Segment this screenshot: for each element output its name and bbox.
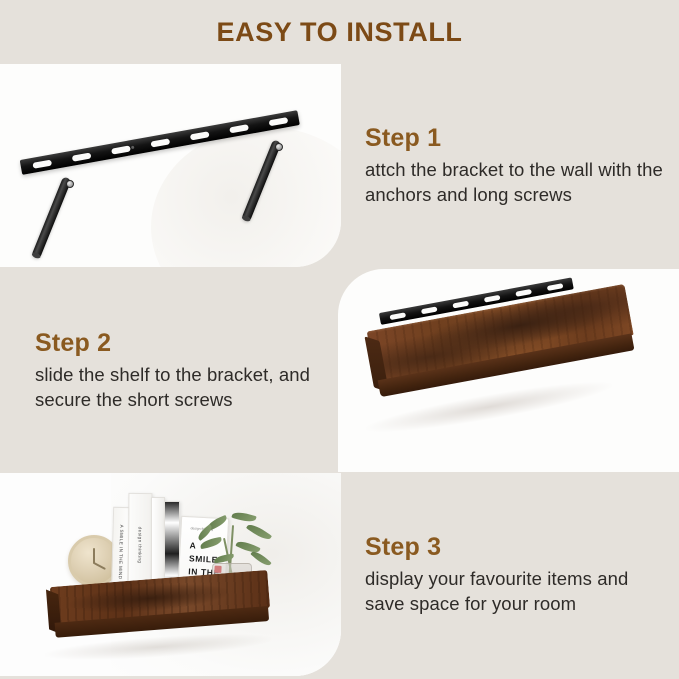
infographic-page: EASY TO INSTALL: [0, 0, 679, 679]
step-3-image-panel: A SMILE IN THE MIND design thinking desi…: [0, 473, 341, 676]
step-2-heading: Step 2: [35, 329, 327, 358]
screw-head-right-icon: [275, 143, 283, 151]
bracket-rod-right-icon: [241, 139, 282, 222]
shelf-illustration: [338, 269, 679, 472]
step-1-heading: Step 1: [365, 124, 671, 153]
step-2-text-panel: Step 2 slide the shelf to the bracket, a…: [0, 269, 341, 472]
styled-shelf-illustration: A SMILE IN THE MIND design thinking desi…: [0, 473, 341, 676]
page-title-bar: EASY TO INSTALL: [0, 0, 679, 64]
step-2-image-panel: [338, 269, 679, 472]
book-spine-1-title: A SMILE IN THE MIND: [117, 525, 123, 580]
bracket-bar-icon: [20, 110, 300, 175]
step-3-text-panel: Step 3 display your favourite items and …: [338, 473, 679, 676]
step-row-3: A SMILE IN THE MIND design thinking desi…: [0, 473, 679, 676]
step-3-heading: Step 3: [365, 533, 671, 562]
step-1-image-panel: [0, 64, 341, 267]
step-2-body: slide the shelf to the bracket, and secu…: [35, 363, 327, 412]
step-1-body: attch the bracket to the wall with the a…: [365, 158, 671, 207]
bracket-rod-left-icon: [31, 176, 72, 259]
screw-head-left-icon: [66, 180, 74, 188]
page-title: EASY TO INSTALL: [216, 17, 462, 48]
book-spine-2-title: design thinking: [137, 527, 142, 564]
wall-bracket: [16, 120, 316, 250]
bracket-illustration: [0, 64, 341, 267]
step-3-body: display your favourite items and save sp…: [365, 567, 671, 616]
step-row-1: Step 1 attch the bracket to the wall wit…: [0, 64, 679, 267]
step-row-2: Step 2 slide the shelf to the bracket, a…: [0, 269, 679, 472]
step-1-text-panel: Step 1 attch the bracket to the wall wit…: [338, 64, 679, 267]
